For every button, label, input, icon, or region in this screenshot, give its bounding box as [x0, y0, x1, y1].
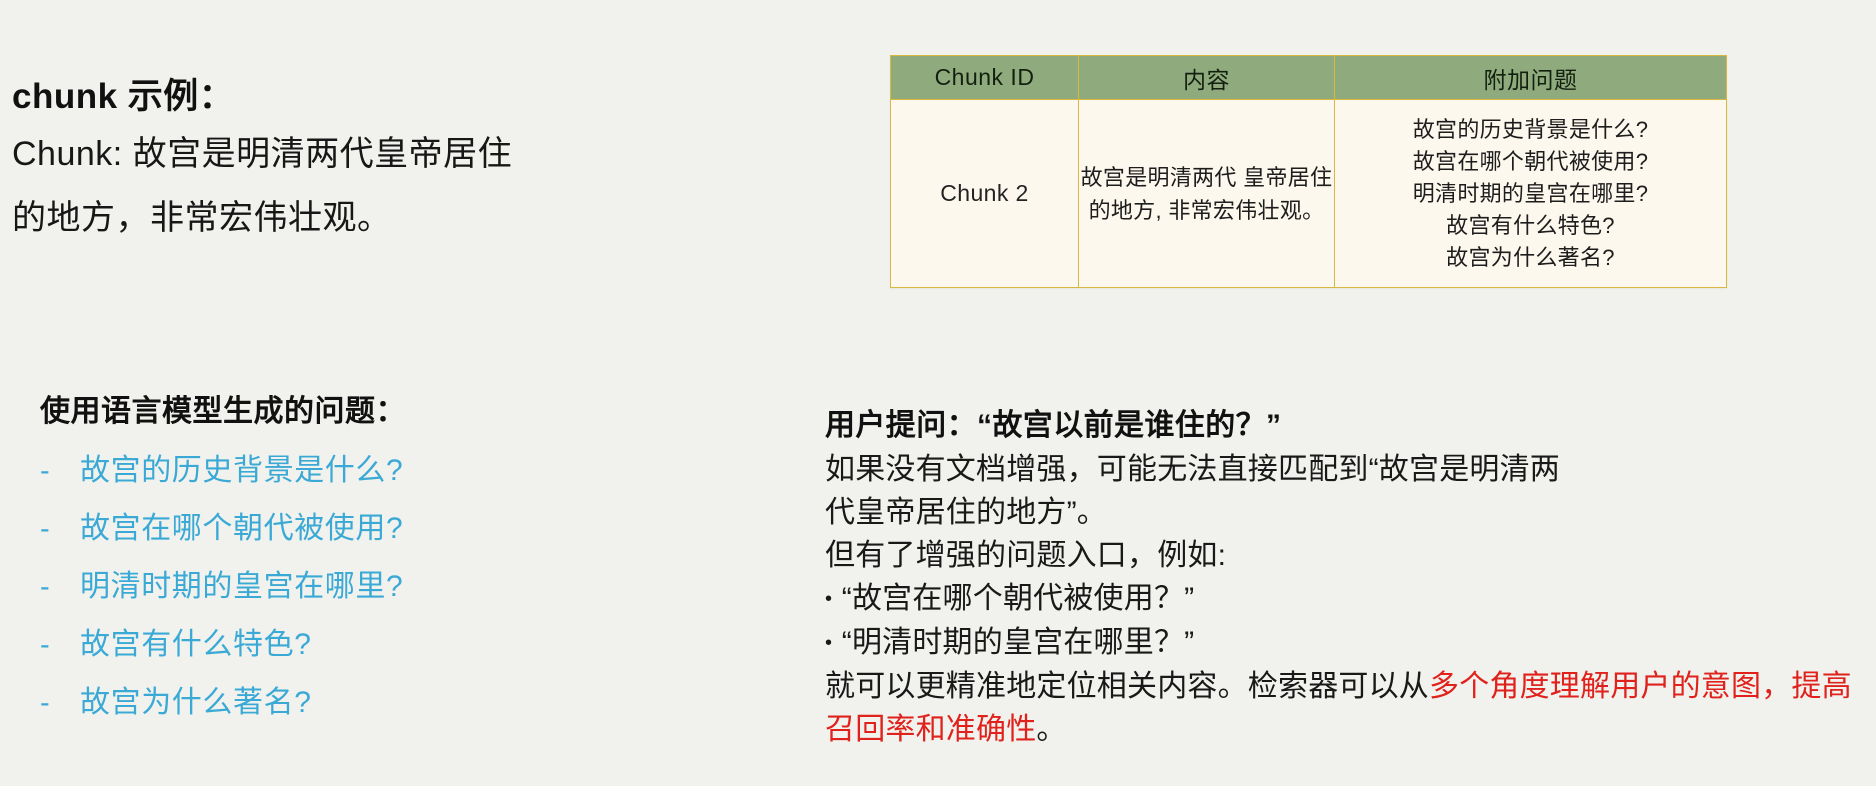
generated-questions-list: - 故宫的历史背景是什么? - 故宫在哪个朝代被使用? - 明清时期的皇宫在哪里… — [34, 442, 403, 732]
extra-question-line: 故宫为什么著名? — [1335, 242, 1726, 274]
slide-canvas: chunk 示例： Chunk: 故宫是明清两代皇帝居住 的地方，非常宏伟壮观。… — [0, 0, 1876, 786]
example-bullet-2: “明清时期的皇宫在哪里？” — [825, 621, 1865, 665]
bullet-dash-icon: - — [34, 674, 80, 732]
table-row: Chunk 2 故宫是明清两代 皇帝居住的地方, 非常宏伟壮观。 故宫的历史背景… — [891, 100, 1727, 288]
no-augmentation-line-2: 代皇帝居住的地方”。 — [825, 491, 1865, 534]
table-header-questions: 附加问题 — [1335, 56, 1727, 100]
generated-question-text: 明清时期的皇宫在哪里? — [80, 558, 403, 616]
generated-question-text: 故宫在哪个朝代被使用? — [80, 500, 403, 558]
left-column: chunk 示例： Chunk: 故宫是明清两代皇帝居住 的地方，非常宏伟壮观。… — [0, 0, 760, 786]
bullet-dash-icon: - — [34, 558, 80, 616]
table-cell-content: 故宫是明清两代 皇帝居住的地方, 非常宏伟壮观。 — [1079, 100, 1335, 288]
list-item: - 故宫的历史背景是什么? — [34, 442, 403, 500]
example-bullet-1-text: “故宫在哪个朝代被使用？” — [842, 582, 1195, 615]
content-line: 故宫是明清两代 — [1081, 165, 1237, 190]
table-header-chunk-id: Chunk ID — [891, 56, 1079, 100]
generated-question-text: 故宫的历史背景是什么? — [80, 442, 403, 500]
conclusion-text-plain-end: 。 — [1036, 713, 1066, 746]
chunk-example-title: chunk 示例： — [12, 68, 234, 119]
generated-questions-heading: 使用语言模型生成的问题： — [40, 386, 406, 430]
right-explanation-block: 用户提问：“故宫以前是谁住的？” 如果没有文档增强，可能无法直接匹配到“故宫是明… — [825, 404, 1865, 751]
user-question-heading: 用户提问：“故宫以前是谁住的？” — [825, 404, 1865, 448]
extra-question-line: 故宫的历史背景是什么? — [1335, 114, 1726, 146]
table-cell-chunk-id: Chunk 2 — [891, 100, 1079, 288]
chunk-table: Chunk ID 内容 附加问题 Chunk 2 故宫是明清两代 皇帝居住的地方… — [890, 55, 1727, 288]
augmented-intro-paragraph: 但有了增强的问题入口，例如: — [825, 534, 1865, 577]
no-augmentation-paragraph: 如果没有文档增强，可能无法直接匹配到“故宫是明清两 代皇帝居住的地方”。 — [825, 448, 1865, 534]
table-header-row: Chunk ID 内容 附加问题 — [891, 56, 1727, 100]
generated-question-text: 故宫为什么著名? — [80, 674, 311, 732]
list-item: - 明清时期的皇宫在哪里? — [34, 558, 403, 616]
conclusion-paragraph: 就可以更精准地定位相关内容。检索器可以从多个角度理解用户的意图，提高召回率和准确… — [825, 665, 1865, 751]
chunk-body-line-1: Chunk: 故宫是明清两代皇帝居住 — [12, 122, 712, 186]
bullet-dash-icon: - — [34, 500, 80, 558]
table-header-content: 内容 — [1079, 56, 1335, 100]
content-line: 非常宏伟壮观。 — [1168, 198, 1324, 223]
example-bullet-2-text: “明清时期的皇宫在哪里？” — [842, 626, 1195, 659]
list-item: - 故宫为什么著名? — [34, 674, 403, 732]
chunk-example-body: Chunk: 故宫是明清两代皇帝居住 的地方，非常宏伟壮观。 — [12, 122, 712, 250]
bullet-dash-icon: - — [34, 442, 80, 500]
table-cell-extra-questions: 故宫的历史背景是什么? 故宫在哪个朝代被使用? 明清时期的皇宫在哪里? 故宫有什… — [1335, 100, 1727, 288]
bullet-dash-icon: - — [34, 616, 80, 674]
generated-question-text: 故宫有什么特色? — [80, 616, 311, 674]
no-augmentation-line-1: 如果没有文档增强，可能无法直接匹配到“故宫是明清两 — [825, 448, 1865, 491]
extra-question-line: 明清时期的皇宫在哪里? — [1335, 178, 1726, 210]
list-item: - 故宫在哪个朝代被使用? — [34, 500, 403, 558]
extra-question-line: 故宫在哪个朝代被使用? — [1335, 146, 1726, 178]
list-item: - 故宫有什么特色? — [34, 616, 403, 674]
extra-question-line: 故宫有什么特色? — [1335, 210, 1726, 242]
conclusion-text-plain-start: 就可以更精准地定位相关内容。检索器可以从 — [825, 670, 1429, 703]
chunk-body-line-2: 的地方，非常宏伟壮观。 — [12, 186, 712, 250]
example-bullet-1: “故宫在哪个朝代被使用？” — [825, 577, 1865, 621]
